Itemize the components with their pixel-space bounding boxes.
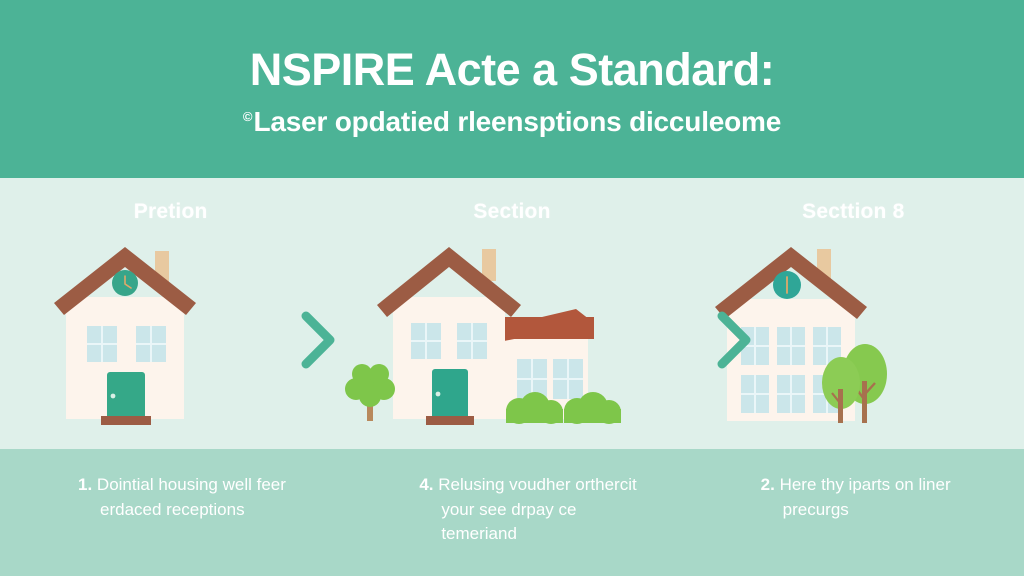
caption-number-3: 2.: [761, 475, 775, 494]
door-step-shape: [101, 416, 151, 425]
caption-text-2: Relusing voudher orthercit your see drpa…: [438, 475, 636, 543]
page-subtitle: Laser opdatied rleensptions dicculeome: [253, 106, 781, 138]
stage-columns: Pretion: [0, 178, 1024, 449]
caption-3: 2. Here thy iparts on liner precurgs: [761, 473, 991, 522]
copyright-mark-icon: ©: [243, 110, 253, 123]
extension-roof-shape: [504, 317, 594, 339]
window-shape: [457, 323, 487, 359]
window-shape: [741, 375, 769, 413]
window-shape: [777, 375, 805, 413]
page-title: NSPIRE Acte a Standard:: [250, 46, 774, 95]
door-step-shape: [426, 416, 474, 425]
caption-row: 1. Dointial housing well feer erdaced re…: [0, 449, 1024, 576]
tree-icon: [345, 364, 395, 421]
window-shape: [411, 323, 441, 359]
illustration-1: [0, 224, 341, 449]
stage-label-3: Secttion 8: [802, 200, 904, 224]
window-shape: [87, 326, 117, 362]
caption-cell-2: 4. Relusing voudher orthercit your see d…: [341, 449, 682, 576]
caption-2: 4. Relusing voudher orthercit your see d…: [419, 473, 649, 547]
caption-1: 1. Dointial housing well feer erdaced re…: [78, 473, 308, 522]
door-knob-shape: [436, 392, 441, 397]
caption-cell-1: 1. Dointial housing well feer erdaced re…: [0, 449, 341, 576]
chevron-right-icon-1: [294, 308, 342, 372]
window-shape: [136, 326, 166, 362]
infographic-root: NSPIRE Acte a Standard: © Laser opdatied…: [0, 0, 1024, 576]
stage-label-1: Pretion: [134, 200, 208, 224]
caption-text-1: Dointial housing well feer erdaced recep…: [97, 475, 286, 519]
caption-cell-3: 2. Here thy iparts on liner precurgs: [683, 449, 1024, 576]
window-shape: [777, 327, 805, 365]
header-content: NSPIRE Acte a Standard: © Laser opdatied…: [0, 0, 1024, 178]
caption-text-3: Here thy iparts on liner precurgs: [780, 475, 951, 519]
caption-number-1: 1.: [78, 475, 92, 494]
stage-column-2: Section: [341, 178, 682, 449]
door-knob-shape: [111, 394, 116, 399]
stage-label-2: Section: [473, 200, 550, 224]
stage-column-1: Pretion: [0, 178, 341, 449]
illustration-2: [341, 224, 682, 449]
chevron-right-icon-2: [710, 308, 758, 372]
window-shape: [553, 359, 583, 399]
subtitle-row: © Laser opdatied rleensptions dicculeome: [243, 106, 781, 138]
caption-number-2: 4.: [419, 475, 433, 494]
